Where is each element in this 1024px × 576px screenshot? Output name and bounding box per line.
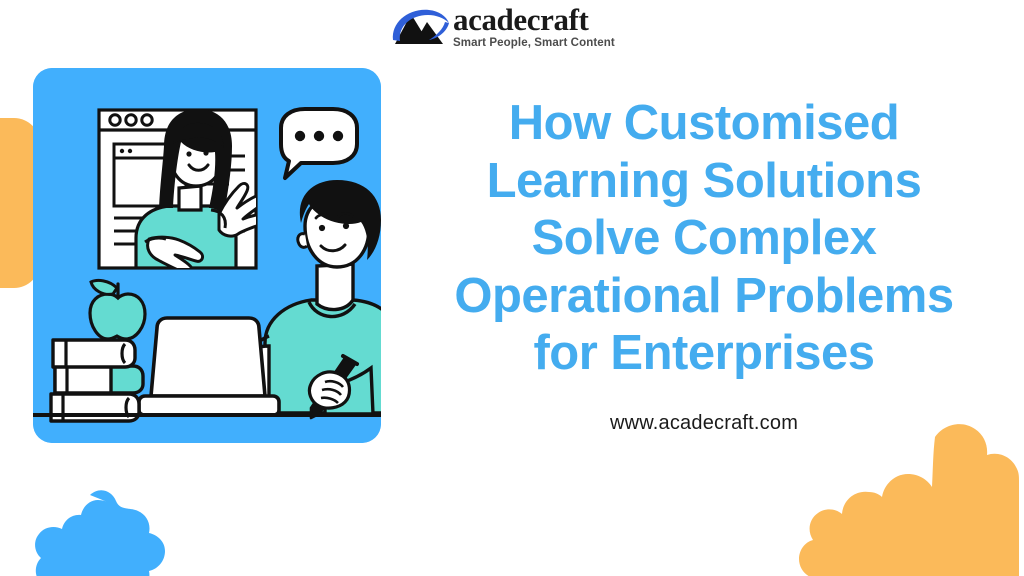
laptop [139, 318, 279, 415]
headline-line-1: How Customised [404, 95, 1004, 153]
online-learning-illustration-card [33, 68, 381, 443]
logo-wordmark: acadecraft [453, 4, 615, 35]
headline-line-3: Solve Complex [404, 210, 1004, 268]
headline-column: How Customised Learning Solutions Solve … [404, 95, 1004, 435]
headline-line-4: Operational Problems [404, 268, 1004, 326]
page-title: How Customised Learning Solutions Solve … [404, 95, 1004, 383]
browser-window [99, 109, 268, 274]
headline-line-5: for Enterprises [404, 325, 1004, 383]
orange-scalloped-blob-decoration [789, 421, 1024, 576]
website-url[interactable]: www.acadecraft.com [610, 411, 798, 435]
headline-line-2: Learning Solutions [404, 153, 1004, 211]
book-stack [51, 340, 143, 421]
logo-text-group: acadecraft Smart People, Smart Content [453, 4, 615, 50]
logo-tagline: Smart People, Smart Content [453, 36, 615, 50]
blue-scalloped-blob-decoration [12, 487, 187, 576]
online-learning-illustration [33, 68, 381, 443]
mountain-swoosh-logo-icon [389, 4, 451, 50]
slide-canvas: acadecraft Smart People, Smart Content [0, 0, 1024, 576]
brand-logo[interactable]: acadecraft Smart People, Smart Content [389, 1, 639, 53]
